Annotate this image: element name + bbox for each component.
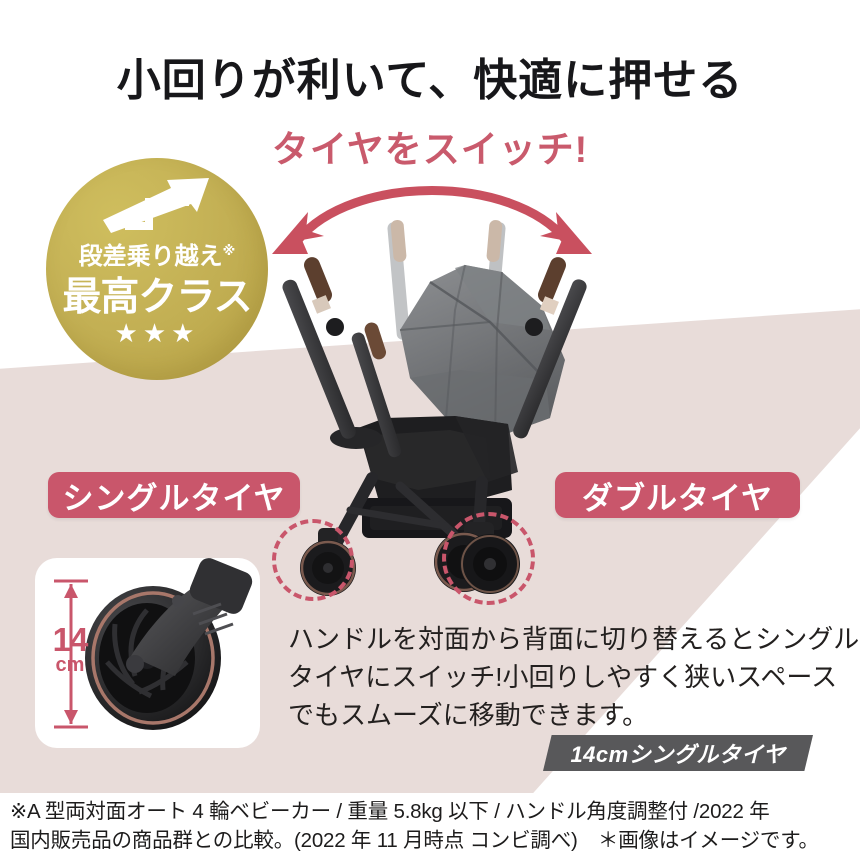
single-tire-label-text: シングルタイヤ — [62, 473, 285, 518]
double-tire-label-text: ダブルタイヤ — [582, 473, 773, 518]
caption-tag: 14cmシングルタイヤ — [543, 735, 813, 771]
dimension-label: 14 cm — [44, 624, 96, 676]
footnote-line-1: ※A 型両対面オート 4 輪ベビーカー / 重量 5.8kg 以下 / ハンドル… — [10, 797, 855, 826]
body-copy-line-2: タイヤにスイッチ!小回りしやすく狭いスペース — [288, 658, 848, 696]
step-climb-arrow-icon — [97, 178, 217, 241]
body-copy-line-1: ハンドルを対面から背面に切り替えるとシングル — [288, 620, 848, 658]
body-copy: ハンドルを対面から背面に切り替えるとシングル タイヤにスイッチ!小回りしやすく狭… — [288, 620, 848, 735]
promo-graphic-root: 小回りが利いて、快適に押せる タイヤをスイッチ! 段差乗り越え※ 最高クラス ★… — [0, 0, 860, 860]
single-wheel-highlight-circle — [272, 519, 354, 601]
footnote: ※A 型両対面オート 4 輪ベビーカー / 重量 5.8kg 以下 / ハンドル… — [10, 797, 855, 855]
badge-stars: ★★★ — [46, 318, 268, 349]
best-class-badge: 段差乗り越え※ 最高クラス ★★★ — [46, 158, 268, 380]
badge-asterisk-mark: ※ — [223, 243, 236, 258]
single-tire-label: シングルタイヤ — [48, 472, 300, 518]
footnote-line-2: 国内販売品の商品群との比較。(2022 年 11 月時点 コンビ調べ) ＊画像は… — [10, 826, 855, 855]
dimension-unit: cm — [44, 656, 96, 676]
dimension-number: 14 — [44, 624, 96, 656]
double-tire-label: ダブルタイヤ — [555, 472, 800, 518]
caption-tag-text: 14cmシングルタイヤ — [570, 737, 785, 769]
page-title: 小回りが利いて、快適に押せる — [0, 44, 860, 108]
body-copy-line-3: でもスムーズに移動できます。 — [288, 696, 848, 734]
badge-line-2: 最高クラス — [46, 266, 268, 322]
double-wheel-highlight-circle — [442, 512, 535, 605]
